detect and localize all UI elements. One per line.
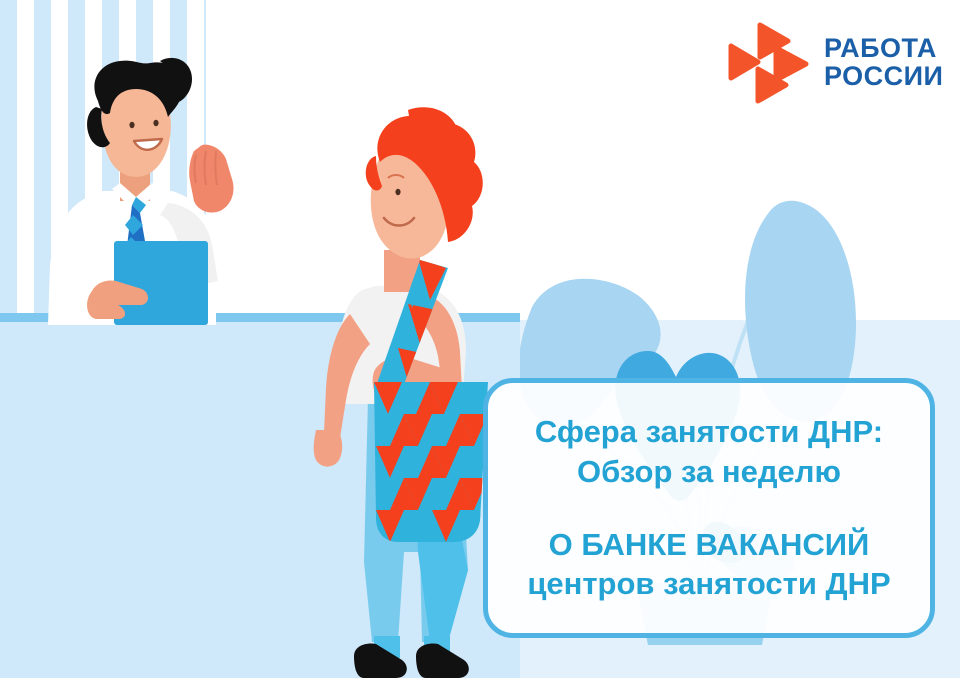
waving-hand xyxy=(189,145,233,213)
logo-line-2: РОССИИ xyxy=(824,63,943,91)
caption-subtitle-line-2: центров занятости ДНР xyxy=(527,564,890,603)
caption-subtitle-line-1: О БАНКЕ ВАКАНСИЙ xyxy=(527,525,890,564)
caption-title-line-2: Обзор за неделю xyxy=(535,452,883,491)
caption-block-title: Сфера занятости ДНР: Обзор за неделю xyxy=(535,412,883,491)
brand-logo: РАБОТА РОССИИ xyxy=(728,22,940,104)
logo-line-1: РАБОТА xyxy=(824,35,943,63)
brand-logo-text: РАБОТА РОССИИ xyxy=(824,35,943,90)
caption-title-line-1: Сфера занятости ДНР: xyxy=(535,412,883,451)
poster-canvas: РАБОТА РОССИИ Сфера занятости ДНР: Обзор… xyxy=(0,0,960,678)
four-triangles-pinwheel-logo-icon xyxy=(728,22,810,104)
clipboard xyxy=(114,241,208,325)
hand-left xyxy=(314,430,342,467)
caption-block-subtitle: О БАНКЕ ВАКАНСИЙ центров занятости ДНР xyxy=(527,525,890,604)
shoe-right xyxy=(416,644,469,678)
character-clerk-waving xyxy=(40,55,280,325)
caption-card: Сфера занятости ДНР: Обзор за неделю О Б… xyxy=(483,378,935,638)
